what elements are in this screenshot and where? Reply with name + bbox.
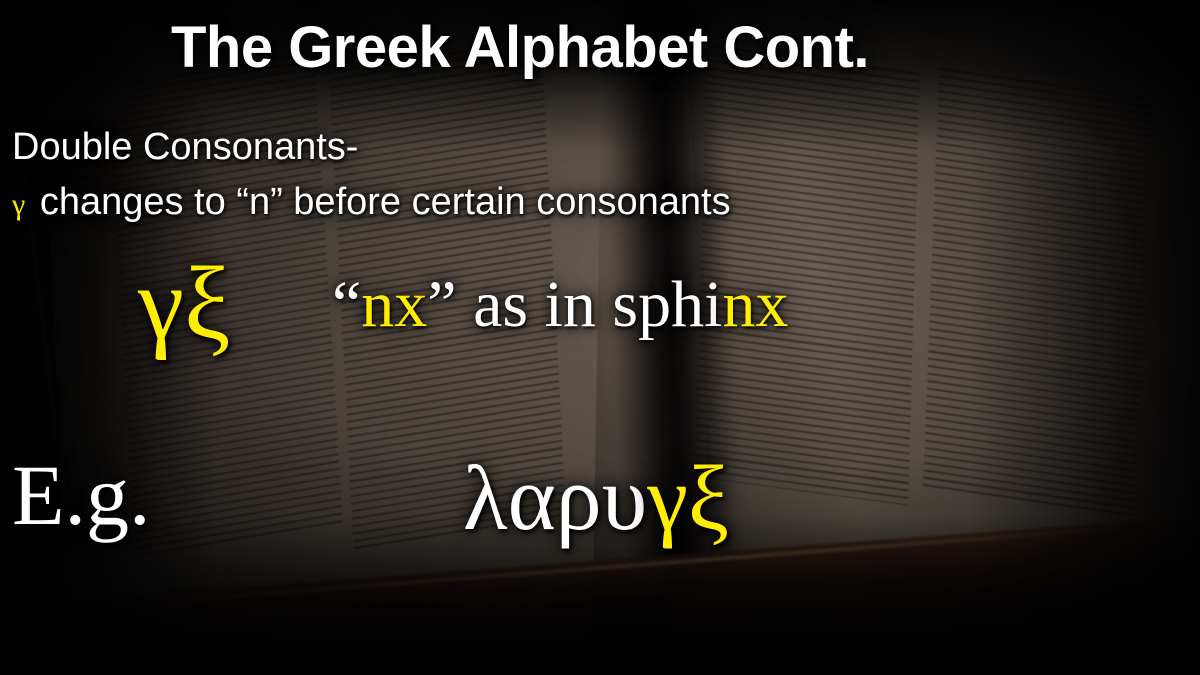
eg-label: E.g. [12,452,151,538]
example-word-row: E.g. λαρυγξ [0,452,1200,582]
lead-line-gamma-rule-text: changes to “n” before certain consonants [29,181,730,223]
pronounce-sphinx-nx: nx [722,268,788,341]
slide-title: The Greek Alphabet Cont. [0,18,1200,79]
open-quote: “ [332,268,361,341]
example-row-gamma-xi: γξ “nx” as in sphinx [0,252,1200,372]
lead-paragraph: Double Consonants- γ changes to “n” befo… [12,120,731,230]
digraph-gamma-xi: γξ [138,252,230,356]
slide-canvas: The Greek Alphabet Cont. Double Consonan… [0,0,1200,675]
lead-line-double-consonants: Double Consonants- [12,120,731,175]
pronunciation-phrase: “nx” as in sphinx [332,272,788,338]
gamma-glyph-small: γ [12,188,29,221]
pronounce-as-in-sphi: as in sphi [457,268,723,341]
greek-word-gamma-xi: γξ [647,447,729,549]
slide-text-layer: The Greek Alphabet Cont. Double Consonan… [0,0,1200,675]
close-quote: ” [427,268,456,341]
pronounce-sound-nx: nx [361,268,427,341]
greek-word-stem: λαρυ [463,447,647,549]
greek-word-larynx: λαρυγξ [463,452,729,544]
lead-line-gamma-rule: γ changes to “n” before certain consonan… [12,175,731,230]
